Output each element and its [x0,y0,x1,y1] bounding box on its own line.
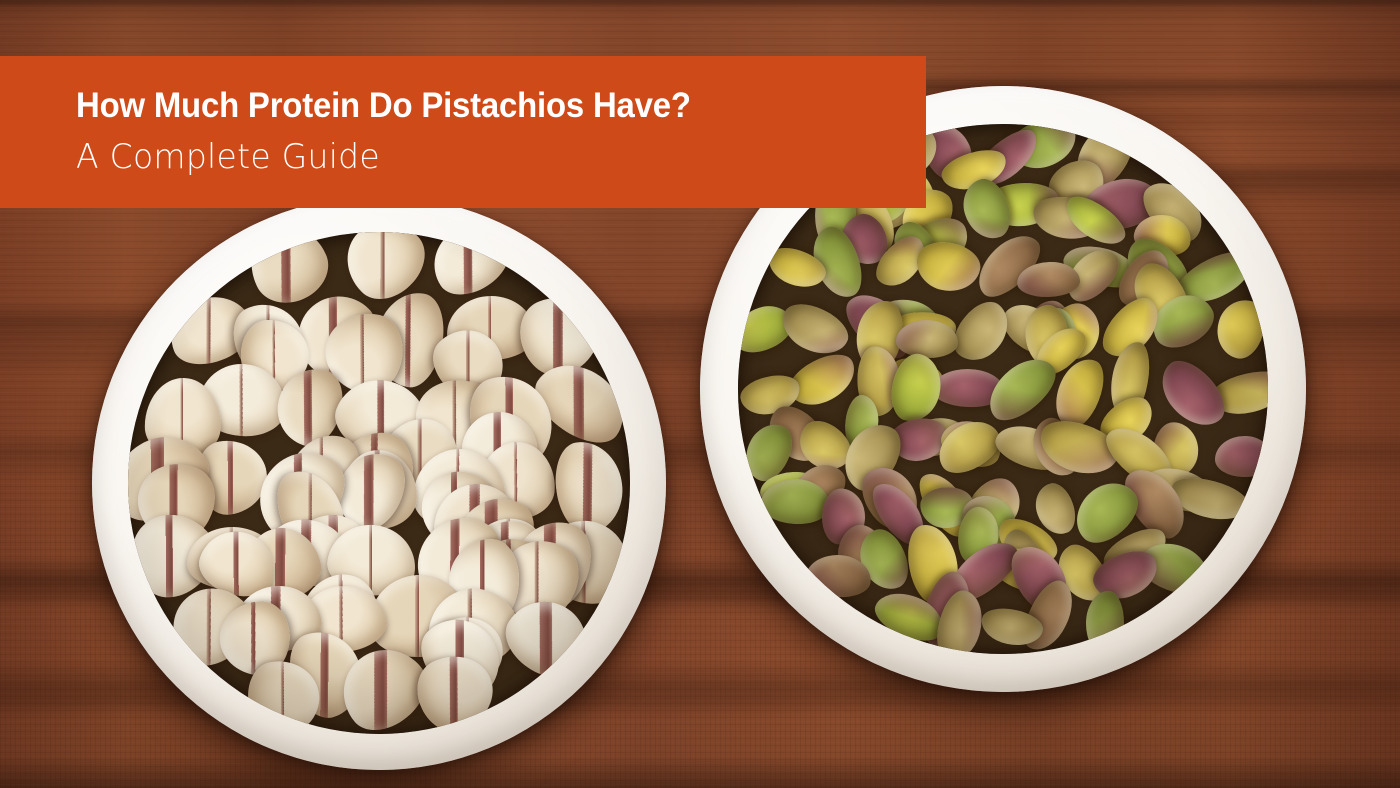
bowl-interior-left [128,232,630,734]
pistachio-kernel [774,295,855,364]
page-subtitle: A Complete Guide [76,139,901,176]
hero-image: How Much Protein Do Pistachios Have? A C… [0,0,1400,788]
pistachio-kernel [912,237,984,297]
in-shell-pistachios-bowl [92,196,666,770]
title-banner: How Much Protein Do Pistachios Have? A C… [0,56,926,208]
pistachio-kernel [1214,435,1268,477]
pistachio-kernel [1085,591,1125,654]
page-title: How Much Protein Do Pistachios Have? [76,88,875,125]
pistachio-in-shell [420,232,520,307]
